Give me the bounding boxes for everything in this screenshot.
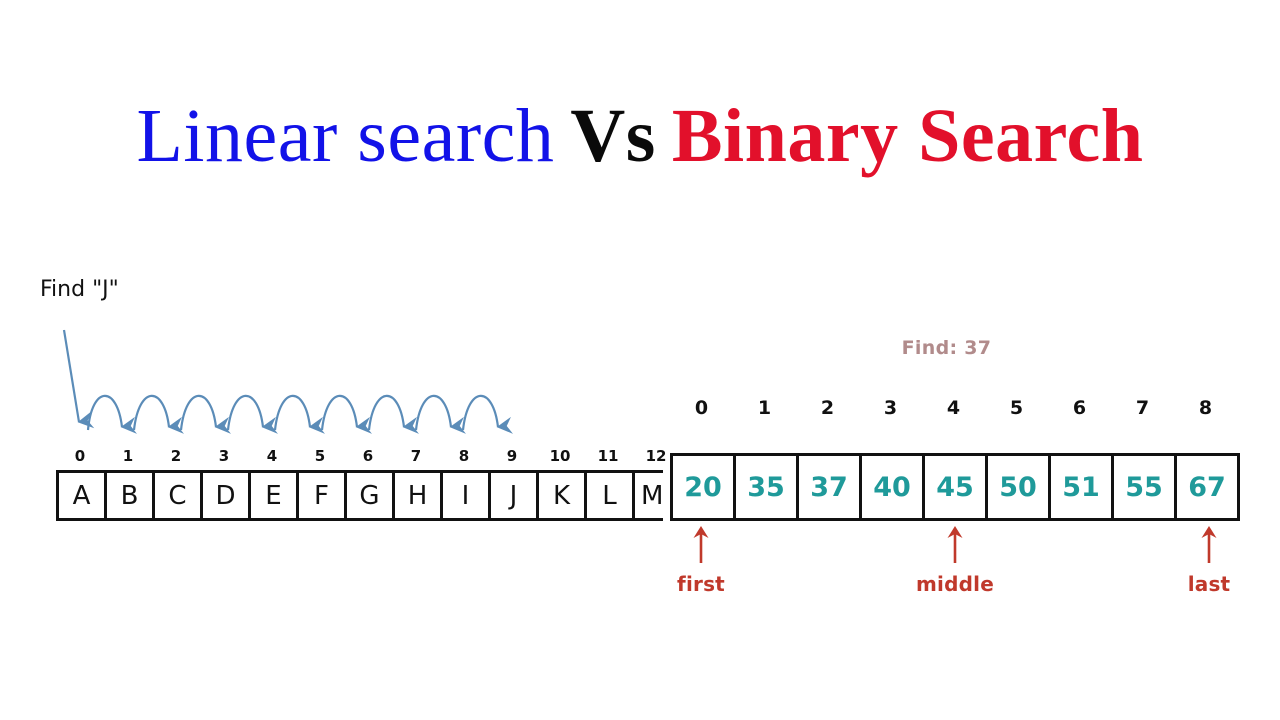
binary-index: 0 — [670, 397, 733, 419]
binary-index: 7 — [1111, 397, 1174, 419]
linear-array-cell[interactable]: D — [203, 470, 251, 521]
binary-array-cell[interactable]: 20 — [673, 453, 736, 521]
pointer-middle-label: middle — [915, 572, 995, 596]
linear-index: 3 — [200, 447, 248, 465]
title-linear-search: Linear search — [136, 94, 554, 178]
binary-array-cell[interactable]: 50 — [988, 453, 1051, 521]
linear-index: 8 — [440, 447, 488, 465]
linear-array-cell-target[interactable]: J — [491, 470, 539, 521]
linear-array-cell[interactable]: F — [299, 470, 347, 521]
arrow-up-icon — [688, 523, 714, 565]
binary-index: 8 — [1174, 397, 1237, 419]
pointer-first-label: first — [661, 572, 741, 596]
binary-index: 5 — [985, 397, 1048, 419]
binary-array-cell-target[interactable]: 37 — [799, 453, 862, 521]
binary-index: 4 — [922, 397, 985, 419]
binary-pointer-row: first middle last — [670, 523, 1243, 618]
linear-index: 10 — [536, 447, 584, 465]
linear-index: 11 — [584, 447, 632, 465]
linear-array-cell[interactable]: C — [155, 470, 203, 521]
linear-array-cell[interactable]: I — [443, 470, 491, 521]
linear-index: 0 — [56, 447, 104, 465]
linear-array: A B C D E F G H I J K L M — [56, 470, 663, 521]
linear-index: 1 — [104, 447, 152, 465]
binary-array-cell-middle[interactable]: 45 — [925, 453, 988, 521]
linear-index: 5 — [296, 447, 344, 465]
linear-index-row: 0 1 2 3 4 5 6 7 8 9 10 11 12 — [56, 447, 680, 465]
linear-array-cell[interactable]: A — [59, 470, 107, 521]
linear-index: 7 — [392, 447, 440, 465]
binary-index: 1 — [733, 397, 796, 419]
pointer-first: first — [661, 523, 741, 596]
linear-index: 9 — [488, 447, 536, 465]
binary-index: 6 — [1048, 397, 1111, 419]
linear-array-cell[interactable]: E — [251, 470, 299, 521]
find-j-label: Find "J" — [40, 277, 119, 302]
linear-index: 2 — [152, 447, 200, 465]
binary-array-cell[interactable]: 67 — [1177, 453, 1240, 521]
linear-array-cell[interactable]: B — [107, 470, 155, 521]
linear-array-cell[interactable]: G — [347, 470, 395, 521]
binary-index: 2 — [796, 397, 859, 419]
linear-traversal-arrows — [0, 305, 650, 455]
page-title: Linear searchVsBinary Search — [0, 88, 1280, 184]
binary-array-cell[interactable]: 55 — [1114, 453, 1177, 521]
linear-index: 6 — [344, 447, 392, 465]
title-vs: Vs — [570, 94, 655, 178]
binary-index-row: 0 1 2 3 4 5 6 7 8 — [670, 397, 1237, 419]
binary-array: 20 35 37 40 45 50 51 55 67 — [670, 453, 1240, 521]
linear-array-cell[interactable]: K — [539, 470, 587, 521]
pointer-last-label: last — [1169, 572, 1249, 596]
linear-search-diagram: Find "J" — [0, 265, 650, 545]
slide-canvas: Linear searchVsBinary Search Find "J" — [0, 0, 1280, 720]
arrow-up-icon — [942, 523, 968, 565]
binary-array-cell[interactable]: 40 — [862, 453, 925, 521]
binary-array-cell[interactable]: 51 — [1051, 453, 1114, 521]
binary-search-diagram: Find: 37 0 1 2 3 4 5 6 7 8 20 35 37 40 4… — [650, 265, 1280, 625]
pointer-last: last — [1169, 523, 1249, 596]
linear-array-cell[interactable]: L — [587, 470, 635, 521]
linear-array-cell[interactable]: H — [395, 470, 443, 521]
arrow-up-icon — [1196, 523, 1222, 565]
find-37-label: Find: 37 — [650, 337, 1243, 359]
linear-index: 4 — [248, 447, 296, 465]
binary-index: 3 — [859, 397, 922, 419]
pointer-middle: middle — [915, 523, 995, 596]
title-binary-search: Binary Search — [672, 94, 1144, 178]
binary-array-cell[interactable]: 35 — [736, 453, 799, 521]
